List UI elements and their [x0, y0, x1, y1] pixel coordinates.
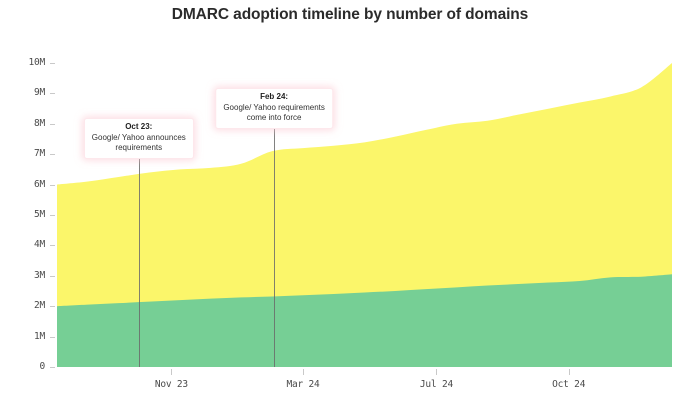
- y-tick-label: 2M: [5, 300, 45, 311]
- x-tick-label: Oct 24: [552, 379, 585, 390]
- event-line-feb-24: [274, 126, 275, 367]
- x-tick-label: Nov 23: [155, 379, 188, 390]
- y-tick-mark: [50, 154, 55, 155]
- y-tick-label: 5M: [5, 209, 45, 220]
- y-tick-label: 1M: [5, 331, 45, 342]
- plot-area: 01M2M3M4M5M6M7M8M9M10M Nov 23Mar 24Jul 2…: [0, 0, 700, 401]
- x-tick-mark: [569, 369, 570, 375]
- y-tick-mark: [50, 245, 55, 246]
- x-tick-mark: [303, 369, 304, 375]
- x-tick-mark: [436, 369, 437, 375]
- annotation-callout-oct-23[interactable]: Oct 23:Google/ Yahoo announcesrequiremen…: [84, 118, 194, 159]
- y-tick-label: 9M: [5, 87, 45, 98]
- x-tick-label: Jul 24: [420, 379, 453, 390]
- x-tick-mark: [171, 369, 172, 375]
- annotation-body-line1: Google/ Yahoo requirements: [223, 103, 325, 113]
- y-tick-mark: [50, 124, 55, 125]
- annotation-body-line2: requirements: [92, 143, 186, 153]
- y-tick-mark: [50, 63, 55, 64]
- annotation-title: Oct 23:: [92, 122, 186, 133]
- y-tick-label: 3M: [5, 270, 45, 281]
- y-tick-mark: [50, 215, 55, 216]
- y-tick-mark: [50, 276, 55, 277]
- y-tick-label: 8M: [5, 118, 45, 129]
- y-tick-label: 0: [5, 361, 45, 372]
- event-line-oct-23: [139, 156, 140, 367]
- y-tick-mark: [50, 337, 55, 338]
- y-tick-label: 4M: [5, 239, 45, 250]
- annotation-callout-feb-24[interactable]: Feb 24:Google/ Yahoo requirementscome in…: [215, 88, 333, 129]
- stacked-area-svg: [0, 0, 700, 401]
- x-tick-label: Mar 24: [286, 379, 319, 390]
- y-tick-mark: [50, 93, 55, 94]
- chart-root: DMARC adoption timeline by number of dom…: [0, 0, 700, 401]
- annotation-title: Feb 24:: [223, 92, 325, 103]
- y-tick-mark: [50, 306, 55, 307]
- y-tick-label: 10M: [5, 57, 45, 68]
- y-tick-mark: [50, 185, 55, 186]
- y-tick-label: 6M: [5, 179, 45, 190]
- annotation-body-line1: Google/ Yahoo announces: [92, 133, 186, 143]
- annotation-body-line2: come into force: [223, 113, 325, 123]
- area-series-group: [57, 63, 672, 367]
- y-tick-mark: [50, 367, 55, 368]
- y-tick-label: 7M: [5, 148, 45, 159]
